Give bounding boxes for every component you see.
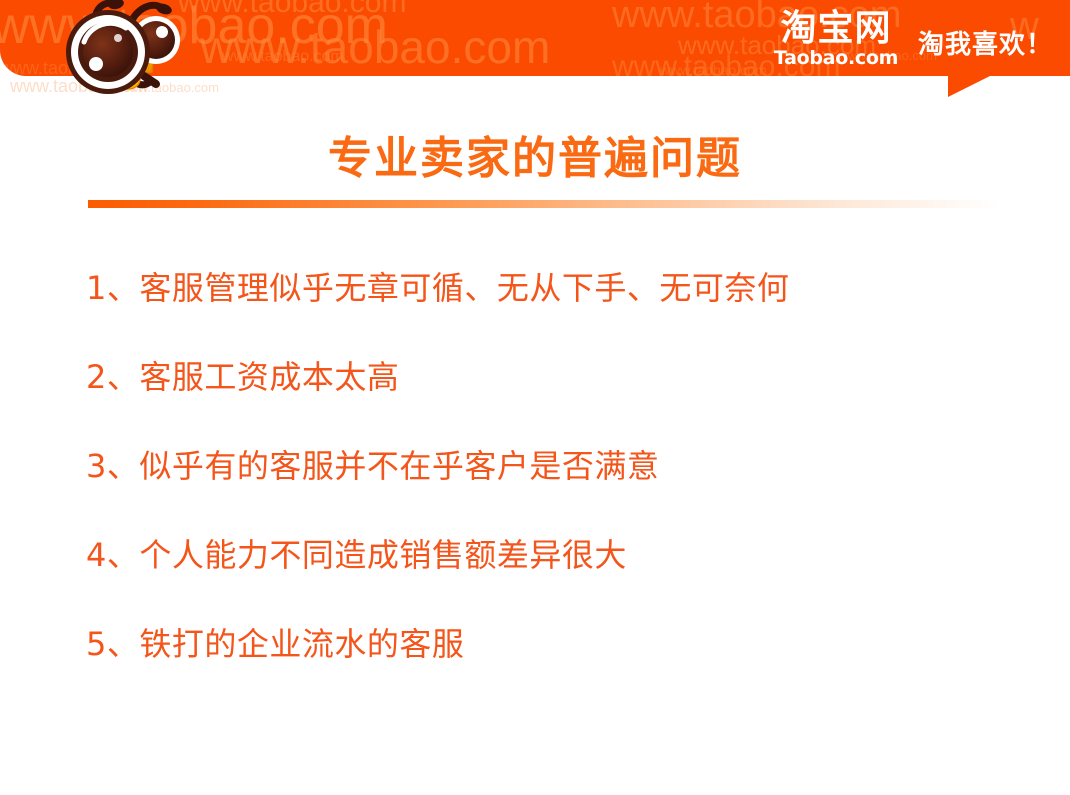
list-item: 5、铁打的企业流水的客服: [86, 624, 1026, 713]
list-item: 2、客服工资成本太高: [86, 357, 1026, 446]
watermark-text: www.taobao.com: [178, 0, 406, 20]
speech-bubble-tail: [948, 75, 992, 97]
slide-canvas: www.taobao.com www.taobao.com www.taobao…: [0, 0, 1070, 795]
taobao-slogan: 淘我喜欢！: [918, 24, 1053, 61]
taobao-logo-chinese: 淘宝网: [762, 10, 910, 48]
taobao-logo: 淘宝网 Taobao.com: [762, 10, 910, 68]
taobao-bee-mascot-icon: [52, 0, 192, 108]
taobao-logo-english: Taobao.com: [762, 48, 910, 68]
list-item: 4、个人能力不同造成销售额差异很大: [86, 535, 1026, 624]
watermark-text: www.taobao.com: [222, 48, 344, 66]
bullet-list: 1、客服管理似乎无章可循、无从下手、无可奈何 2、客服工资成本太高 3、似乎有的…: [86, 268, 1026, 713]
page-title: 专业卖家的普遍问题: [0, 122, 1070, 186]
watermark-text: www.taobao.com: [660, 62, 767, 76]
title-divider: [88, 200, 1000, 208]
list-item: 3、似乎有的客服并不在乎客户是否满意: [86, 446, 1026, 535]
list-item: 1、客服管理似乎无章可循、无从下手、无可奈何: [86, 268, 1026, 357]
watermark-text: www.taobao.com: [200, 20, 550, 74]
